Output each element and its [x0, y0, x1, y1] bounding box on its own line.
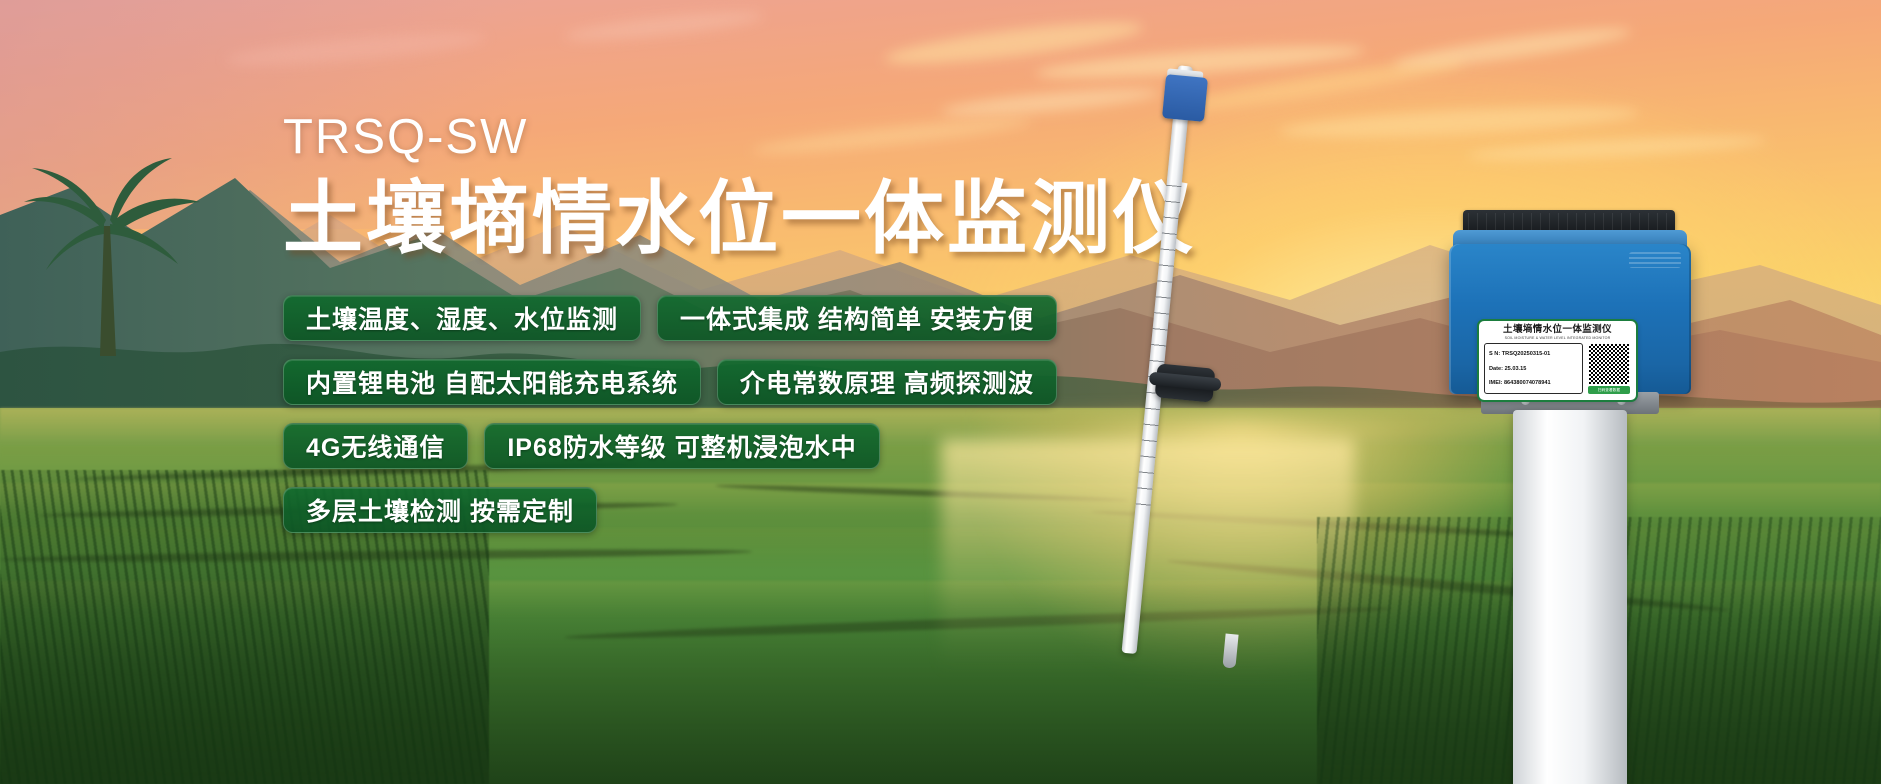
- label-field-list: S N: TRSQ20250315-01 Date: 25.03.15 IMEI…: [1484, 343, 1583, 394]
- probe-rod-head-module: [1162, 74, 1208, 122]
- probe-rod-graduations: [1135, 185, 1182, 515]
- label-field-date-value: 25.03.15: [1505, 366, 1527, 372]
- feature-tag-row: 内置锂电池 自配太阳能充电系统 介电常数原理 高频探测波: [283, 359, 1113, 405]
- feature-tag: 土壤温度、湿度、水位监测: [283, 295, 641, 341]
- qr-code-icon: [1588, 343, 1630, 385]
- label-qr-block: 扫码查看数据: [1587, 343, 1631, 394]
- probe-rod-collar-clamp: [1155, 363, 1216, 402]
- feature-tag: 4G无线通信: [283, 423, 468, 469]
- hero-copy-block: TRSQ-SW 土壤墒情水位一体监测仪: [283, 112, 1083, 261]
- product-hero-banner: TRSQ-SW 土壤墒情水位一体监测仪 土壤温度、湿度、水位监测 一体式集成 结…: [0, 0, 1881, 784]
- feature-tag-row: 土壤温度、湿度、水位监测 一体式集成 结构简单 安装方便: [283, 295, 1113, 341]
- label-product-name: 土壤墒情水位一体监测仪: [1484, 325, 1631, 335]
- qr-code-caption: 扫码查看数据: [1588, 386, 1630, 394]
- label-field-date-key: Date:: [1489, 366, 1503, 372]
- label-field-imei: IMEI: 864380074078941: [1489, 380, 1579, 388]
- feature-tag: 介电常数原理 高频探测波: [717, 359, 1057, 405]
- feature-tag: 一体式集成 结构简单 安装方便: [657, 295, 1057, 341]
- label-field-date: Date: 25.03.15: [1489, 366, 1579, 374]
- label-body: S N: TRSQ20250315-01 Date: 25.03.15 IMEI…: [1484, 343, 1631, 394]
- feature-tag-row: 多层土壤检测 按需定制: [283, 487, 1113, 533]
- palm-tree: [14, 150, 224, 380]
- label-field-imei-value: 864380074078941: [1504, 380, 1551, 386]
- feature-tag: 多层土壤检测 按需定制: [283, 487, 597, 533]
- monitor-device-unit: [1437, 196, 1707, 784]
- enclosure-vent: [1629, 252, 1681, 268]
- label-field-serial-value: TRSQ20250315-01: [1502, 351, 1551, 357]
- feature-tag-row: 4G无线通信 IP68防水等级 可整机浸泡水中: [283, 423, 1113, 469]
- label-field-serial-key: S N:: [1489, 351, 1500, 357]
- label-product-name-english: SOIL MOISTURE & WATER LEVEL INTEGRATED M…: [1484, 336, 1631, 340]
- device-nameplate-label: 土壤墒情水位一体监测仪 SOIL MOISTURE & WATER LEVEL …: [1477, 319, 1638, 402]
- feature-tag: 内置锂电池 自配太阳能充电系统: [283, 359, 701, 405]
- label-field-serial: S N: TRSQ20250315-01: [1489, 351, 1579, 359]
- mounting-pole: [1513, 410, 1627, 784]
- label-field-imei-key: IMEI:: [1489, 380, 1502, 386]
- feature-tag-list: 土壤温度、湿度、水位监测 一体式集成 结构简单 安装方便 内置锂电池 自配太阳能…: [283, 295, 1113, 551]
- product-model-code: TRSQ-SW: [283, 112, 1083, 163]
- page-title: 土壤墒情水位一体监测仪: [283, 177, 1083, 261]
- soil-probe-rod: [1120, 36, 1240, 656]
- feature-tag: IP68防水等级 可整机浸泡水中: [484, 423, 879, 469]
